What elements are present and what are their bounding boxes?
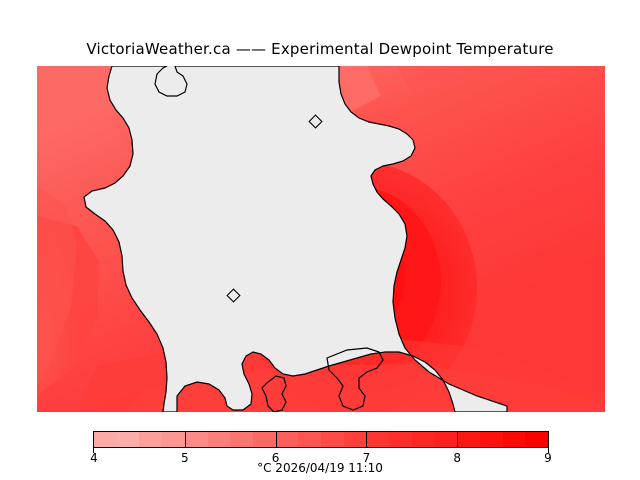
colorbar-tick xyxy=(457,431,458,448)
colorbar-swatch xyxy=(412,432,435,447)
page-title: VictoriaWeather.ca —— Experimental Dewpo… xyxy=(0,40,640,58)
colorbar-swatch xyxy=(435,432,458,447)
colorbar-gradient xyxy=(93,431,549,448)
colorbar-swatch xyxy=(139,432,162,447)
colorbar-tick xyxy=(185,431,186,448)
colorbar-swatch xyxy=(525,432,548,447)
colorbar-swatch xyxy=(276,432,299,447)
colorbar-swatch xyxy=(457,432,480,447)
colorbar-swatch xyxy=(389,432,412,447)
colorbar-swatch xyxy=(208,432,231,447)
colorbar-tick xyxy=(276,431,277,448)
colorbar-swatch xyxy=(480,432,503,447)
colorbar-swatch xyxy=(185,432,208,447)
colorbar-tick xyxy=(366,431,367,448)
colorbar-swatch xyxy=(117,432,140,447)
colorbar-swatch xyxy=(230,432,253,447)
colorbar-swatch xyxy=(366,432,389,447)
colorbar-swatch xyxy=(253,432,276,447)
colorbar-swatch xyxy=(321,432,344,447)
colorbar: 456789 xyxy=(93,431,549,448)
colorbar-swatch xyxy=(94,432,117,447)
colorbar-swatch xyxy=(298,432,321,447)
colorbar-swatch xyxy=(503,432,526,447)
map-panel[interactable] xyxy=(37,66,605,412)
dewpoint-contour-map[interactable] xyxy=(37,66,605,412)
colorbar-swatch xyxy=(162,432,185,447)
weather-map-page: VictoriaWeather.ca —— Experimental Dewpo… xyxy=(0,0,640,480)
colorbar-swatch xyxy=(344,432,367,447)
colorbar-caption: °C 2026/04/19 11:10 xyxy=(0,461,640,475)
